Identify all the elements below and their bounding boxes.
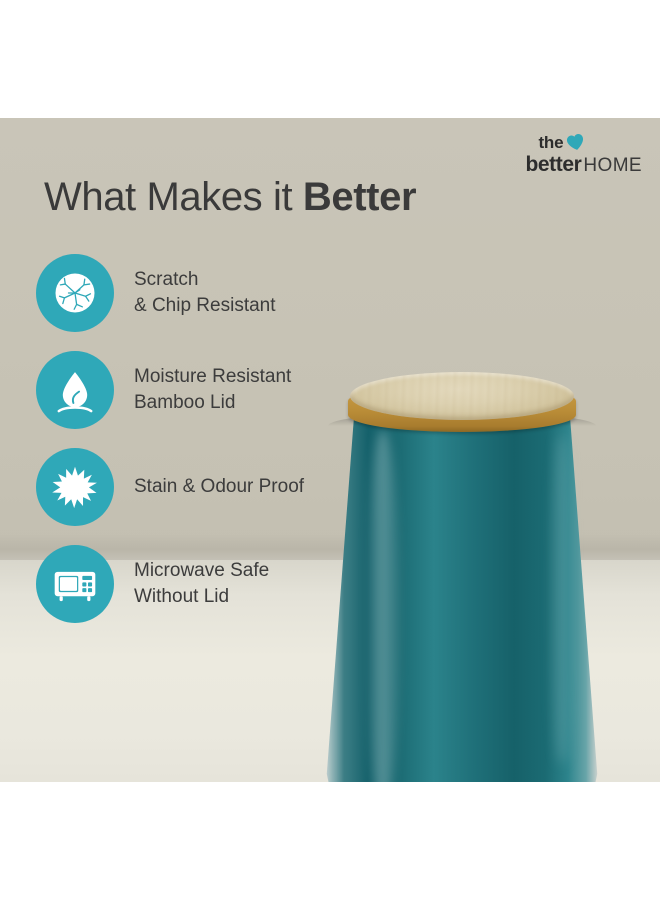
feature-label: Moisture Resistant Bamboo Lid [134, 364, 291, 416]
brand-logo-home: HOME [583, 156, 642, 175]
page-title-bold: Better [303, 175, 416, 219]
page-title: What Makes it Better [44, 177, 416, 217]
bamboo-lid [348, 372, 576, 434]
stain-odour-proof-splash-icon [36, 448, 114, 526]
product-image [296, 360, 626, 782]
moisture-resistant-droplet-icon [36, 351, 114, 429]
page-title-light: What Makes it [44, 175, 303, 219]
feature-label: Scratch & Chip Resistant [134, 267, 276, 319]
brand-logo-row-top: the [538, 133, 642, 151]
feature-item-scratch-chip-resistant: Scratch & Chip Resistant [36, 254, 336, 332]
canister-highlight-right [550, 434, 574, 764]
feature-item-moisture-resistant: Moisture Resistant Bamboo Lid [36, 351, 336, 429]
scratch-chip-resistant-icon [36, 254, 114, 332]
brand-logo: the better HOME [525, 133, 642, 175]
feature-label: Stain & Odour Proof [134, 474, 304, 500]
brand-logo-row-bottom: better HOME [525, 154, 642, 175]
heart-icon [566, 133, 585, 151]
feature-label: Microwave Safe Without Lid [134, 558, 269, 610]
feature-item-stain-odour-proof: Stain & Odour Proof [36, 448, 336, 526]
brand-logo-better: better [525, 154, 581, 175]
microwave-safe-icon [36, 545, 114, 623]
feature-list: Scratch & Chip Resistant Moisture Resist… [36, 254, 336, 642]
feature-item-microwave-safe: Microwave Safe Without Lid [36, 545, 336, 623]
brand-logo-the: the [538, 134, 563, 151]
bamboo-lid-grain [350, 372, 574, 420]
